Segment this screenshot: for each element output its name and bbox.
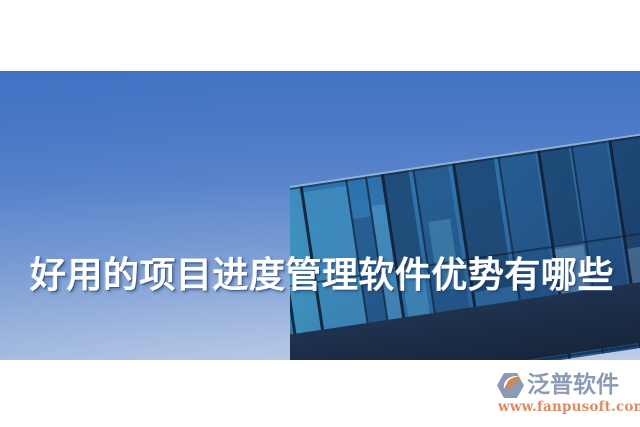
- site-logo[interactable]: 泛普软件 www.fanpusoft.com: [497, 372, 633, 416]
- banner-page: 好用的项目进度管理软件优势有哪些 泛普软件 www.fanpusoft.com: [0, 0, 640, 427]
- page-title: 好用的项目进度管理软件优势有哪些: [30, 254, 610, 298]
- glass-building-graphic: [290, 71, 640, 360]
- logo-website-url: www.fanpusoft.com: [497, 399, 633, 415]
- logo-row: 泛普软件: [497, 372, 633, 398]
- hero-banner-image: 好用的项目进度管理软件优势有哪些: [0, 71, 640, 360]
- logo-company-name: 泛普软件: [527, 373, 619, 398]
- hexagon-swoosh-icon: [497, 373, 524, 398]
